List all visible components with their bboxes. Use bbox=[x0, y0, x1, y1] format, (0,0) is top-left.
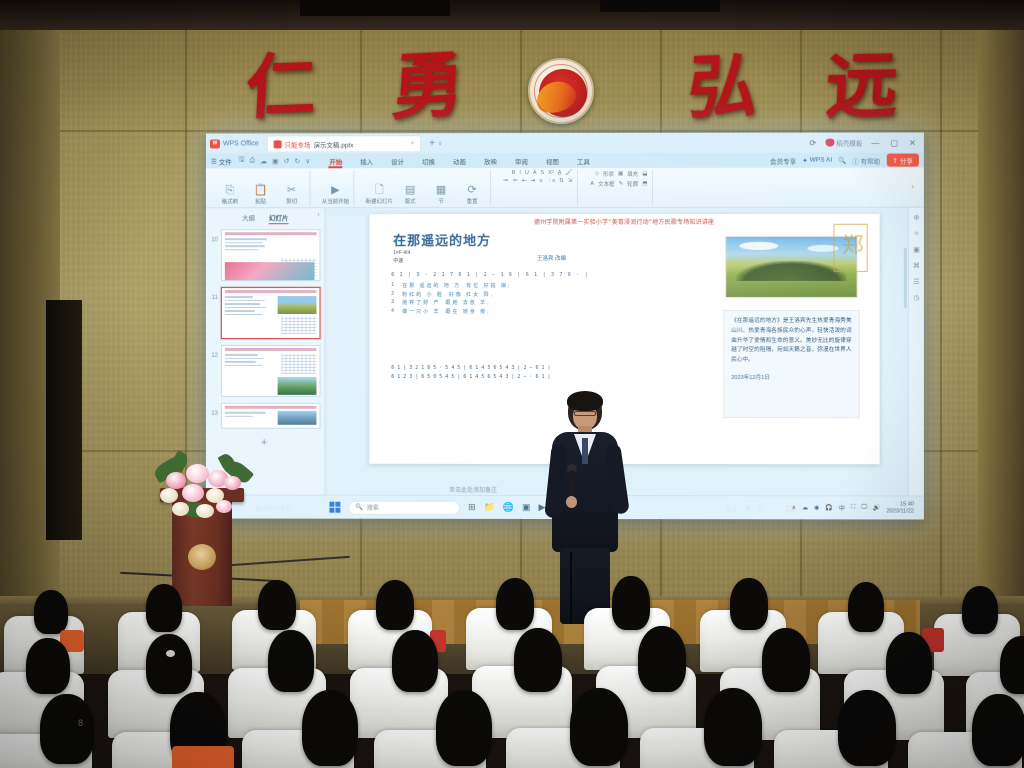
lyric-index: 4 bbox=[391, 308, 397, 315]
slide-number: 13 bbox=[208, 403, 218, 417]
undo-icon[interactable]: ↺ bbox=[284, 157, 290, 165]
start-from-current-button[interactable]: ▶ 从当前开始 bbox=[322, 185, 348, 205]
cut-button[interactable]: ✂ 剪切 bbox=[279, 185, 305, 205]
format-painter-label: 格式刷 bbox=[222, 197, 238, 205]
file-explorer-icon[interactable]: 📁 bbox=[484, 502, 495, 513]
system-tray: ∧ ☁ ◉ 🎧 中 ⛶ 🖵 🔊 15:40 2023/11/22 bbox=[792, 501, 918, 515]
wall-seam bbox=[940, 30, 942, 650]
align-shape-button[interactable]: ⬒ bbox=[642, 181, 647, 187]
format-painter-button[interactable]: ⎘ 格式刷 bbox=[217, 185, 243, 205]
score-line: 6 1 | 3 · 2 1 7 6 1 | 2 — 1 6 | 6 1 | 3 … bbox=[391, 270, 606, 279]
student-head bbox=[376, 580, 414, 630]
share-label: 分享 bbox=[900, 155, 913, 165]
audio-device-icon[interactable]: 🎧 bbox=[825, 504, 833, 511]
slide-thumbnail[interactable] bbox=[221, 229, 321, 281]
ribbon-group-drawing: ◇ 形状 ▦ 填充 ⬓ A 文本框 ✎ 轮廓 ⬒ bbox=[585, 170, 653, 205]
ceiling-panel-left bbox=[300, 0, 450, 16]
app-icon[interactable]: ▣ bbox=[522, 502, 531, 513]
textbox-label: 文本框 bbox=[598, 180, 615, 188]
start-from-current-label: 从当前开始 bbox=[322, 197, 349, 205]
lecture-hall-scene: 仁 勇 弘 远 W WPS Office 只能专场 演示文稿.pptx × + … bbox=[0, 0, 1024, 768]
ribbon-tab-insert[interactable]: 插入 bbox=[351, 156, 382, 166]
student-head bbox=[392, 630, 438, 692]
ribbon-tab-tools[interactable]: 工具 bbox=[568, 155, 599, 165]
student-head bbox=[730, 578, 768, 630]
thumbnail-list: 10 11 bbox=[206, 227, 324, 449]
lyric-text-right: 好像 红太 阳, bbox=[449, 291, 494, 298]
favorites-icon[interactable]: ✧ bbox=[913, 230, 919, 238]
lyric-text: 粉红的 小 脸 bbox=[402, 291, 444, 298]
network-icon[interactable]: 🖵 bbox=[861, 504, 867, 511]
thumbnail-tabs: 大纲 幻灯片 ‹ bbox=[206, 208, 324, 227]
lyric-text: 做一只小 羊 bbox=[402, 308, 440, 315]
layout-label: 版式 bbox=[405, 197, 416, 205]
slide-number: 12 bbox=[208, 345, 218, 359]
student-head bbox=[146, 584, 182, 632]
right-sidebar: ⊕ ✧ ▣ ⌘ ☰ ◷ bbox=[908, 208, 924, 501]
ribbon-tab-animation[interactable]: 动画 bbox=[444, 156, 475, 166]
new-slide-label: 新建幻灯片 bbox=[366, 197, 393, 205]
underline-button[interactable]: U bbox=[525, 170, 529, 176]
reset-icon: ⟳ bbox=[467, 185, 476, 196]
school-emblem bbox=[528, 58, 594, 124]
lyric-text: 在那 遥远的 地 方 bbox=[402, 282, 461, 289]
ime-icon[interactable]: 中 bbox=[839, 503, 845, 512]
search-icon[interactable]: 🔍 bbox=[838, 156, 846, 164]
textbox-button[interactable]: A bbox=[590, 181, 594, 187]
columns-button[interactable]: ⇲ bbox=[568, 178, 573, 184]
outline-label: 轮廓 bbox=[627, 180, 638, 188]
sync-icon[interactable]: ⟳ bbox=[807, 138, 818, 147]
ribbon-group-clipboard: ⎘ 格式刷 📋 粘贴 ✂ 剪切 bbox=[212, 170, 311, 205]
volume-icon[interactable]: 🔊 bbox=[873, 504, 881, 511]
ppt-file-icon bbox=[274, 140, 282, 148]
ribbon-tab-start[interactable]: 开始 bbox=[320, 156, 351, 166]
flower-arrangement bbox=[152, 454, 256, 524]
reset-label: 重置 bbox=[467, 197, 478, 205]
bullets-button[interactable]: ≔ bbox=[503, 178, 508, 184]
format-painter-icon: ⎘ bbox=[225, 185, 234, 196]
quick-access-toolbar: 🖫 ⎙ ☁ ▣ ↺ ↻ ∨ bbox=[239, 155, 311, 166]
cloud-icon[interactable]: ☁ bbox=[260, 157, 267, 165]
clock-time: 15:40 bbox=[887, 501, 914, 508]
wps-ai-label: WPS AI bbox=[810, 157, 832, 164]
student-head bbox=[638, 626, 686, 692]
score-notes: 6 1 | 3 · 2 1 7 6 1 | 2 — 1 6 | 6 1 | 3 … bbox=[391, 271, 589, 277]
emblem-ring bbox=[534, 64, 588, 118]
tempo-mark: 中速 bbox=[393, 258, 410, 265]
redo-icon[interactable]: ↻ bbox=[294, 157, 300, 165]
task-view-icon[interactable]: ⊞ bbox=[468, 502, 476, 513]
score-line-3: 6 1 2 3 | 6 5 0 5 4 5 | 6 1 4 5 6 5 4 3 … bbox=[391, 373, 621, 382]
close-window-button[interactable]: ✕ bbox=[907, 138, 918, 147]
new-slide-button[interactable]: 🗋 新建幻灯片 bbox=[366, 185, 392, 205]
tab-title: 演示文稿.pptx bbox=[314, 139, 354, 149]
close-tab-icon[interactable]: × bbox=[410, 140, 414, 147]
student-head bbox=[302, 690, 358, 766]
slide-thumbnail[interactable] bbox=[221, 403, 321, 429]
wps-logo: W WPS Office bbox=[210, 139, 259, 148]
student-head bbox=[258, 580, 296, 630]
superscript-button[interactable]: X² bbox=[548, 170, 553, 176]
ceiling-panel-right bbox=[600, 0, 720, 12]
slide-key-signature: 1=F 4/4 中速 bbox=[393, 250, 410, 265]
lyric-row: 2 粉红的 小 脸 好像 红太 阳, bbox=[391, 290, 606, 297]
section-icon: ▦ bbox=[436, 185, 446, 196]
thumb-text-lines bbox=[225, 354, 272, 368]
podium-emblem bbox=[188, 544, 216, 570]
docer-icon bbox=[825, 139, 834, 147]
tray-expand-icon[interactable]: ∧ bbox=[792, 504, 796, 511]
lyric-row: 3 抛弃了财 产 跟她 去放 羊, bbox=[391, 299, 606, 306]
font-color-button[interactable]: A̲ bbox=[558, 170, 562, 176]
tab-outline[interactable]: 大纲 bbox=[242, 212, 255, 224]
font-effect-button[interactable]: A bbox=[533, 170, 537, 176]
thumb-title-bar bbox=[225, 290, 317, 293]
file-menu-label: 文件 bbox=[219, 156, 232, 166]
student-audience: 8 bbox=[0, 568, 1024, 768]
lyric-text-right: 跟在 她身 旁; bbox=[446, 308, 491, 315]
search-input[interactable]: 🔍 搜索 bbox=[348, 500, 460, 514]
thumb-title-bar bbox=[225, 406, 317, 409]
list-item[interactable]: 10 bbox=[208, 229, 320, 281]
student-head bbox=[436, 690, 492, 766]
menu-right-group: 会员专享 ✦ WPS AI 🔍 ⓘ 有帮助 ⇪ 分享 bbox=[770, 154, 919, 167]
wall-character-yuan: 远 bbox=[824, 49, 900, 122]
wall-character-yong: 勇 bbox=[389, 48, 466, 124]
new-slide-icon: 🗋 bbox=[375, 185, 384, 196]
docer-label: 稻壳模板 bbox=[836, 138, 862, 148]
text-direction-button[interactable]: ⇅ bbox=[559, 178, 564, 184]
description-box[interactable]: 《在那遥远的地方》是王洛宾先生热爱青海秀美山川、热爱青海各族民众的心声。轻快活泼… bbox=[723, 310, 859, 418]
search-doc-icon[interactable]: ▣ bbox=[272, 157, 279, 165]
thumb-title-bar bbox=[225, 232, 317, 235]
share-icon: ⇪ bbox=[892, 156, 897, 164]
display-icon[interactable]: ⛶ bbox=[851, 504, 855, 511]
minimize-button[interactable]: — bbox=[869, 138, 881, 147]
share-button[interactable]: ⇪ 分享 bbox=[886, 154, 919, 167]
thumb-image-mountain bbox=[277, 411, 316, 425]
design-panel-icon[interactable]: ▣ bbox=[913, 246, 920, 254]
ceiling bbox=[0, 0, 1024, 34]
student-head bbox=[268, 630, 314, 692]
section-label: 节 bbox=[438, 197, 444, 205]
slide-thumbnail[interactable] bbox=[221, 345, 321, 397]
tab-list-chevron-icon[interactable]: ∨ bbox=[438, 140, 442, 147]
thumb-text-lines bbox=[225, 296, 272, 317]
slide-title[interactable]: 在那遥远的地方 bbox=[393, 230, 491, 249]
cloud-sync-icon[interactable]: ☁ bbox=[802, 504, 808, 511]
student-head bbox=[704, 688, 762, 766]
ribbon-tab-view[interactable]: 视图 bbox=[537, 155, 568, 165]
slide-thumbnail-selected[interactable] bbox=[221, 287, 321, 339]
layout-button[interactable]: ▤ 版式 bbox=[397, 185, 423, 205]
help-button[interactable]: ⓘ 有帮助 bbox=[852, 155, 880, 165]
presenter-tie bbox=[582, 438, 588, 464]
thumb-title-bar bbox=[225, 348, 317, 351]
shape-row-2: A 文本框 ✎ 轮廓 ⬒ bbox=[590, 180, 647, 188]
student-clothing bbox=[172, 746, 234, 768]
paste-icon: 📋 bbox=[254, 185, 268, 196]
notes-placeholder[interactable]: 单击此处添加备注 bbox=[449, 485, 497, 494]
align-button[interactable]: ≡ bbox=[539, 178, 542, 184]
student-head bbox=[962, 586, 998, 634]
lyric-row: 1 在那 遥远的 地 方 有位 好姑 娘; bbox=[391, 282, 606, 289]
paste-label: 粘贴 bbox=[255, 197, 266, 205]
thumb-desc-grid bbox=[281, 316, 316, 334]
student-head bbox=[886, 632, 932, 694]
presenter-glasses bbox=[574, 411, 596, 416]
slide-number: 10 bbox=[208, 229, 218, 243]
wps-titlebar: W WPS Office 只能专场 演示文稿.pptx × + ∨ ⟳ 稻壳模板… bbox=[206, 132, 924, 153]
student-head bbox=[496, 578, 534, 630]
ribbon-group-slideshow: ▶ 从当前开始 bbox=[317, 170, 354, 205]
ribbon-group-slides: 🗋 新建幻灯片 ▤ 版式 ▦ 节 ⟳ 重置 bbox=[361, 170, 491, 205]
shape-row-1: ◇ 形状 ▦ 填充 ⬓ bbox=[595, 170, 648, 178]
slide-banner-text: 德州学院附属第一实验小学“美育浸润行动”地方民歌专场知识讲座 bbox=[369, 217, 879, 226]
qat-chevron-icon[interactable]: ∨ bbox=[305, 157, 310, 165]
student-head bbox=[26, 638, 70, 694]
help-circle-icon: ⓘ bbox=[852, 158, 859, 165]
new-tab-icon[interactable]: + bbox=[429, 138, 435, 149]
hair-accessory bbox=[166, 650, 175, 657]
ribbon-tab-review[interactable]: 审阅 bbox=[506, 156, 537, 166]
shape-button[interactable]: ◇ bbox=[595, 171, 599, 177]
thumb-image-lake bbox=[277, 377, 316, 395]
ribbon-tab-transition[interactable]: 切换 bbox=[413, 156, 444, 166]
presenter-hand bbox=[566, 496, 577, 508]
wps-menu-row: ☰ 文件 🖫 ⎙ ☁ ▣ ↺ ↻ ∨ 开始 插入 设计 切换 动画 放映 审阅 … bbox=[206, 153, 924, 169]
lyric-index: 3 bbox=[391, 299, 397, 306]
taskbar-left: 🔍 搜索 ⊞ 📁 🌐 ▣ ▶ W bbox=[329, 500, 561, 514]
paragraph-row: ≔ ≕ ⇤ ⇥ ≡ ⋮≡ ⇅ ⇲ bbox=[503, 178, 572, 184]
lyric-text-right: 有位 好姑 娘; bbox=[466, 282, 511, 289]
increase-indent-button[interactable]: ⇥ bbox=[531, 178, 536, 184]
strikethrough-button[interactable]: S bbox=[541, 170, 545, 176]
decorative-seal-icon: 郑 bbox=[842, 228, 864, 260]
ribbon-tab-slideshow[interactable]: 放映 bbox=[475, 156, 506, 166]
student-head bbox=[40, 694, 94, 764]
wall-character-ren: 仁 bbox=[244, 51, 318, 123]
play-icon: ▶ bbox=[331, 185, 339, 196]
member-exclusive-button[interactable]: 会员专享 bbox=[770, 155, 796, 165]
decrease-indent-button[interactable]: ⇤ bbox=[522, 178, 527, 184]
hamburger-icon: ☰ bbox=[211, 157, 217, 165]
lyric-text-right: 跟她 去放 羊, bbox=[446, 299, 491, 306]
bold-button[interactable]: B bbox=[512, 170, 516, 176]
file-menu-button[interactable]: ☰ 文件 bbox=[211, 156, 232, 166]
font-row: B I U A S X² A̲ 🖌 bbox=[512, 170, 573, 176]
thumb-text-lines bbox=[225, 412, 272, 419]
taskbar-clock[interactable]: 15:40 2023/11/22 bbox=[887, 501, 914, 515]
numbering-button[interactable]: ≕ bbox=[513, 178, 518, 184]
titlebar-right-group: ⟳ 稻壳模板 — ▢ ✕ bbox=[807, 137, 919, 147]
paste-button[interactable]: 📋 粘贴 bbox=[248, 185, 274, 205]
list-item[interactable]: 11 bbox=[208, 287, 320, 339]
line-spacing-button[interactable]: ⋮≡ bbox=[546, 178, 555, 184]
list-item[interactable]: 13 bbox=[208, 403, 320, 429]
tab-badge: 只能专场 bbox=[285, 139, 311, 149]
student-head bbox=[612, 576, 650, 630]
cloud-shape bbox=[739, 242, 778, 250]
docer-button[interactable]: 稻壳模板 bbox=[825, 138, 862, 148]
start-button[interactable] bbox=[329, 502, 340, 513]
presentation-date: 2023年12月1日 bbox=[731, 373, 851, 381]
scissors-icon: ✂ bbox=[287, 185, 296, 196]
microphone-body bbox=[569, 470, 575, 496]
edge-browser-icon[interactable]: 🌐 bbox=[503, 502, 514, 513]
thumb-text-grid bbox=[281, 354, 316, 374]
presenter-hair bbox=[567, 391, 603, 411]
tab-slides[interactable]: 幻灯片 bbox=[269, 212, 288, 224]
tools-panel-icon[interactable]: ⌘ bbox=[913, 262, 920, 270]
add-slide-button[interactable]: + bbox=[208, 435, 320, 449]
thumb-image-grassland bbox=[277, 296, 316, 314]
student-head bbox=[972, 694, 1024, 766]
vertical-scrollbar[interactable] bbox=[904, 248, 907, 308]
student-head bbox=[762, 628, 810, 692]
wps-mark-icon: W bbox=[210, 139, 220, 148]
student-head bbox=[146, 634, 192, 694]
section-button[interactable]: ▦ 节 bbox=[428, 185, 454, 205]
lyric-row: 4 做一只小 羊 跟在 她身 旁; bbox=[391, 307, 606, 314]
student-head bbox=[570, 688, 628, 766]
lyric-text: 抛弃了财 产 bbox=[402, 299, 440, 306]
shape-label: 形状 bbox=[603, 170, 614, 178]
wps-app-name: WPS Office bbox=[223, 140, 259, 147]
slide-number: 11 bbox=[208, 287, 218, 301]
collapse-pane-icon[interactable]: ‹ bbox=[317, 212, 319, 218]
ai-sparkle-icon: ✦ bbox=[802, 156, 807, 164]
thumb-text-lines bbox=[225, 238, 272, 252]
wall-character-hong: 弘 bbox=[685, 51, 760, 123]
insert-panel-icon[interactable]: ⊕ bbox=[913, 214, 919, 222]
student-head bbox=[848, 582, 884, 632]
wall-right-panel bbox=[978, 30, 1024, 650]
highlight-button[interactable]: 🖌 bbox=[565, 170, 572, 176]
print-icon[interactable]: ⎙ bbox=[250, 157, 256, 165]
document-tab[interactable]: 只能专场 演示文稿.pptx × bbox=[267, 135, 421, 151]
cut-label: 剪切 bbox=[286, 197, 297, 205]
student-head bbox=[838, 690, 896, 766]
fill-label: 填充 bbox=[627, 170, 638, 178]
seat-number: 8 bbox=[78, 718, 83, 728]
maximize-button[interactable]: ▢ bbox=[889, 138, 901, 147]
italic-button[interactable]: I bbox=[519, 170, 521, 176]
key-sig: 1=F 4/4 bbox=[393, 250, 410, 258]
thumb-image-flower bbox=[225, 262, 315, 280]
arrange-button[interactable]: ⬓ bbox=[642, 171, 647, 177]
ribbon-tabs: 开始 插入 设计 切换 动画 放映 审阅 视图 工具 bbox=[320, 155, 599, 165]
outline-button[interactable]: ✎ bbox=[619, 181, 624, 187]
layout-icon: ▤ bbox=[405, 185, 415, 196]
history-icon[interactable]: ◷ bbox=[913, 294, 919, 302]
reset-button[interactable]: ⟳ 重置 bbox=[459, 185, 485, 205]
wps-ribbon: ⎘ 格式刷 📋 粘贴 ✂ 剪切 ▶ 从当前开始 bbox=[206, 168, 924, 209]
search-placeholder: 搜索 bbox=[367, 503, 379, 512]
slide-composer: 王洛宾 改编 bbox=[537, 254, 566, 262]
search-icon: 🔍 bbox=[355, 504, 362, 511]
ribbon-tab-design[interactable]: 设计 bbox=[382, 156, 413, 166]
help-label: 有帮助 bbox=[861, 158, 881, 165]
student-head bbox=[514, 628, 562, 692]
ribbon-group-font: B I U A S X² A̲ 🖌 ≔ ≕ ⇤ ⇥ ≡ ⋮≡ ⇅ bbox=[498, 170, 578, 205]
score-line-2: 6 1 | 3 2 1 6 5 · 5 4 5 | 6 1 4 5 6 5 4 … bbox=[391, 364, 621, 373]
status-dot-icon[interactable]: ◉ bbox=[814, 504, 819, 511]
list-item[interactable]: 12 bbox=[208, 345, 320, 397]
side-door bbox=[46, 300, 82, 540]
save-icon[interactable]: 🖫 bbox=[239, 155, 245, 166]
score-tail-line: 6 1 | 3 2 1 6 5 · 5 4 5 | 6 1 4 5 6 5 4 … bbox=[391, 364, 621, 382]
music-score: 6 1 | 3 · 2 1 7 6 1 | 2 — 1 6 | 6 1 | 3 … bbox=[391, 270, 606, 316]
ribbon-expand-icon[interactable]: › bbox=[912, 184, 914, 191]
wps-ai-button[interactable]: ✦ WPS AI bbox=[802, 156, 832, 164]
description-text: 《在那遥远的地方》是王洛宾先生热爱青海秀美山川、热爱青海各族民众的心声。轻快活泼… bbox=[731, 317, 851, 366]
clock-date: 2023/11/22 bbox=[887, 508, 914, 515]
fill-button[interactable]: ▦ bbox=[618, 171, 623, 177]
hill-shape bbox=[737, 261, 847, 281]
lyric-index: 2 bbox=[391, 291, 397, 298]
list-panel-icon[interactable]: ☰ bbox=[913, 278, 919, 286]
ribbon-expand-group: › bbox=[912, 184, 918, 191]
lyric-index: 1 bbox=[391, 282, 397, 289]
student-head bbox=[34, 590, 68, 634]
